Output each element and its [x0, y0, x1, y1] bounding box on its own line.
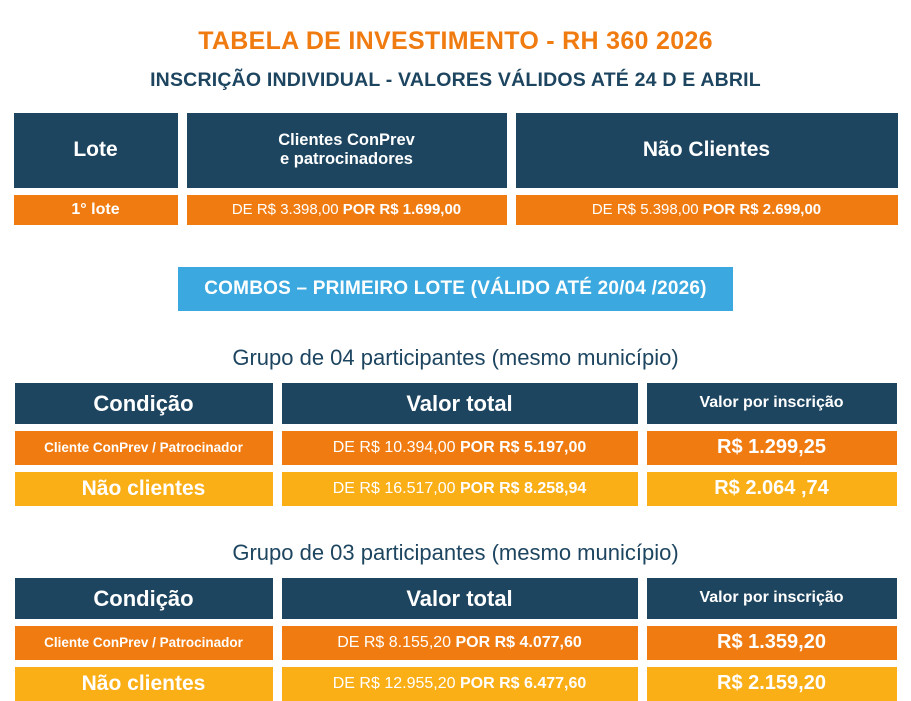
group-3-column-header-total: Valor total	[282, 578, 638, 619]
column-header-clients-line1: Clientes ConPrev	[278, 131, 415, 149]
nonclients-price-from: DE R$ 5.398,00	[592, 201, 703, 218]
group-4-nonclient-total-to: POR R$ 8.258,94	[460, 480, 586, 498]
clients-price-to: POR R$ 1.699,00	[343, 201, 461, 218]
table-row-clients-price: DE R$ 3.398,00 POR R$ 1.699,00	[187, 195, 507, 225]
group-3-column-header-per-registration: Valor por inscrição	[647, 578, 897, 619]
table-row-condition-client: Cliente ConPrev / Patrocinador	[15, 626, 273, 660]
group-4-column-header-per-registration: Valor por inscrição	[647, 383, 897, 424]
investment-table-page: TABELA DE INVESTIMENTO - RH 360 2026 INS…	[0, 0, 911, 694]
column-header-lote: Lote	[14, 113, 178, 188]
combos-banner-wrapper: COMBOS – PRIMEIRO LOTE (VÁLIDO ATÉ 20/04…	[0, 267, 911, 311]
group-3-nonclient-total-from: DE R$ 12.955,20	[333, 675, 460, 693]
table-row-total-client: DE R$ 10.394,00 POR R$ 5.197,00	[282, 431, 638, 465]
table-row-total-client: DE R$ 8.155,20 POR R$ 4.077,60	[282, 626, 638, 660]
group-4-column-header-condition: Condição	[15, 383, 273, 424]
table-row-total-nonclient: DE R$ 16.517,00 POR R$ 8.258,94	[282, 472, 638, 506]
group-3-nonclient-total-to: POR R$ 6.477,60	[460, 675, 586, 693]
combos-banner: COMBOS – PRIMEIRO LOTE (VÁLIDO ATÉ 20/04…	[178, 267, 732, 311]
group-3-caption: Grupo de 03 participantes (mesmo municíp…	[0, 540, 911, 566]
group-4-table: Condição Valor total Valor por inscrição…	[15, 383, 897, 506]
table-row-unit-nonclient: R$ 2.159,20	[647, 667, 897, 701]
table-row-unit-client: R$ 1.299,25	[647, 431, 897, 465]
table-row-condition-nonclient: Não clientes	[15, 472, 273, 506]
group-4-column-header-total: Valor total	[282, 383, 638, 424]
group-4-nonclient-total-from: DE R$ 16.517,00	[333, 480, 460, 498]
table-row-condition-client: Cliente ConPrev / Patrocinador	[15, 431, 273, 465]
column-header-clients-line2: e patrocinadores	[280, 150, 413, 168]
column-header-non-clients: Não Clientes	[516, 113, 898, 188]
table-row-unit-client: R$ 1.359,20	[647, 626, 897, 660]
page-title: TABELA DE INVESTIMENTO - RH 360 2026	[0, 0, 911, 56]
clients-price-from: DE R$ 3.398,00	[232, 201, 343, 218]
group-3-client-total-from: DE R$ 8.155,20	[337, 634, 455, 652]
table-row-condition-nonclient: Não clientes	[15, 667, 273, 701]
group-4-client-total-to: POR R$ 5.197,00	[460, 439, 586, 457]
table-row-lote-label: 1° lote	[14, 195, 178, 225]
group-3-client-total-to: POR R$ 4.077,60	[456, 634, 582, 652]
table-row-nonclients-price: DE R$ 5.398,00 POR R$ 2.699,00	[516, 195, 898, 225]
group-3-table: Condição Valor total Valor por inscrição…	[15, 578, 897, 701]
nonclients-price-to: POR R$ 2.699,00	[703, 201, 821, 218]
page-subtitle: INSCRIÇÃO INDIVIDUAL - VALORES VÁLIDOS A…	[0, 56, 911, 91]
group-4-caption: Grupo de 04 participantes (mesmo municíp…	[0, 345, 911, 371]
group-3-column-header-condition: Condição	[15, 578, 273, 619]
group-4-client-total-from: DE R$ 10.394,00	[333, 439, 460, 457]
individual-investment-table: Lote Clientes ConPrev e patrocinadores N…	[14, 113, 898, 225]
table-row-unit-nonclient: R$ 2.064 ,74	[647, 472, 897, 506]
column-header-clients: Clientes ConPrev e patrocinadores	[187, 113, 507, 188]
table-row-total-nonclient: DE R$ 12.955,20 POR R$ 6.477,60	[282, 667, 638, 701]
